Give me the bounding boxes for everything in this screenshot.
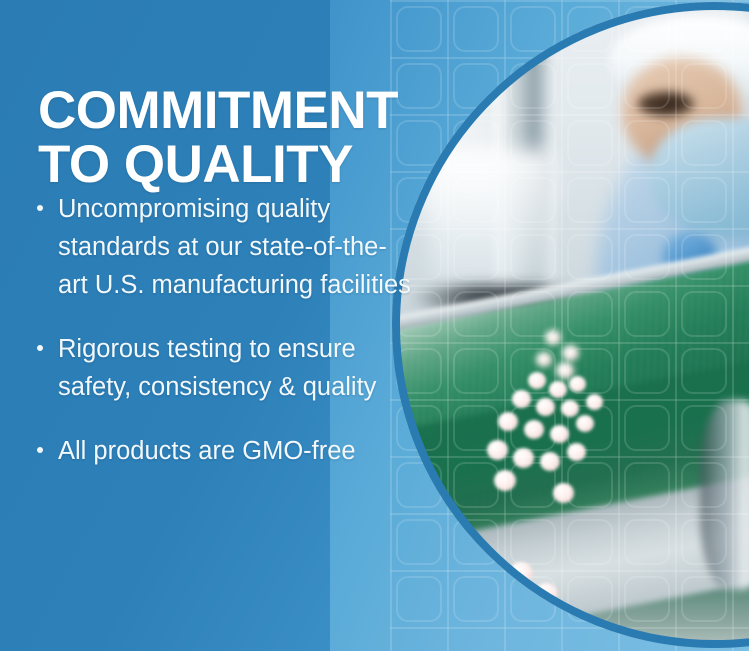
- tablet: [556, 362, 574, 379]
- headline-line-1: COMMITMENT: [38, 81, 398, 140]
- tablet: [528, 372, 546, 389]
- tablet: [562, 345, 579, 361]
- tablet: [494, 470, 516, 491]
- tablet: [540, 452, 560, 471]
- tablet: [569, 376, 586, 392]
- tablet: [513, 448, 534, 468]
- tablet: [535, 583, 558, 605]
- tablet: [536, 398, 555, 416]
- headline-line-2: TO QUALITY: [38, 138, 408, 192]
- tablet: [487, 440, 508, 460]
- mask-strap: [726, 82, 749, 152]
- tablet: [550, 425, 569, 443]
- tablet: [482, 560, 506, 583]
- list-item-label: Rigorous testing to ensure safety, consi…: [58, 330, 414, 406]
- list-item: Uncompromising quality standards at our …: [34, 190, 414, 304]
- slide-canvas: COMMITMENT TO QUALITY Uncompromising qua…: [0, 0, 749, 651]
- tablet: [512, 390, 531, 408]
- list-item-label: Uncompromising quality standards at our …: [58, 190, 414, 304]
- tablet: [567, 443, 586, 461]
- text-column: COMMITMENT TO QUALITY Uncompromising qua…: [0, 0, 420, 651]
- bullet-dot-icon: [37, 205, 43, 211]
- worker-eye: [638, 92, 694, 116]
- tablet: [552, 604, 575, 626]
- tablet: [545, 330, 561, 345]
- tablet: [536, 352, 552, 367]
- tablet: [524, 420, 544, 439]
- list-item: Rigorous testing to ensure safety, consi…: [34, 330, 414, 406]
- list-item: All products are GMO-free: [34, 432, 414, 470]
- page-title: COMMITMENT TO QUALITY: [38, 84, 408, 192]
- bullet-dot-icon: [37, 447, 43, 453]
- list-item-label: All products are GMO-free: [58, 432, 414, 470]
- tablet: [576, 415, 594, 432]
- bullet-dot-icon: [37, 345, 43, 351]
- tablet: [509, 562, 533, 585]
- tablet: [561, 400, 579, 417]
- benefits-list: Uncompromising quality standards at our …: [34, 190, 414, 470]
- tablet: [586, 394, 603, 410]
- tablet: [553, 483, 574, 503]
- tablet: [549, 381, 567, 398]
- conveyor-roller: [700, 400, 749, 590]
- tablet: [498, 412, 518, 431]
